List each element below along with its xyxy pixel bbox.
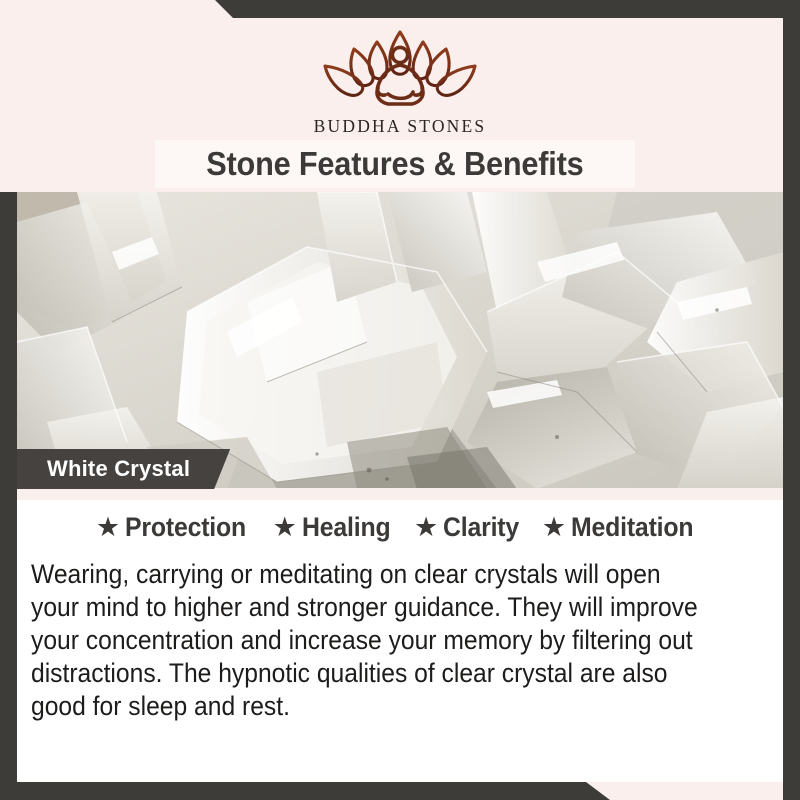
star-icon: ★ bbox=[273, 514, 297, 541]
benefit-label: Meditation bbox=[571, 512, 693, 543]
benefit-label: Protection bbox=[125, 512, 246, 543]
star-icon: ★ bbox=[96, 514, 120, 541]
benefit-item-meditation: ★ Meditation bbox=[542, 512, 704, 543]
header: BUDDHA STONES Stone Features & Benefits bbox=[0, 0, 800, 192]
photo-caption-banner: White Crystal bbox=[17, 449, 230, 489]
frame-left-cream-mask bbox=[0, 0, 17, 192]
benefits-row: ★ Protection ★ Healing ★ Clarity ★ Medit… bbox=[17, 512, 783, 543]
benefit-item-healing: ★ Healing bbox=[273, 512, 398, 543]
description-text: Wearing, carrying or meditating on clear… bbox=[31, 558, 708, 723]
frame-bottom-edge bbox=[0, 782, 800, 800]
benefit-item-clarity: ★ Clarity bbox=[414, 512, 526, 543]
white-crystal-cluster-photo bbox=[17, 192, 783, 489]
page-title: Stone Features & Benefits bbox=[206, 145, 583, 183]
star-icon: ★ bbox=[542, 514, 566, 541]
brand-logo: BUDDHA STONES bbox=[0, 22, 800, 137]
infographic-card: White Crystal bbox=[0, 0, 800, 800]
frame-right-edge bbox=[783, 0, 800, 800]
benefit-label: Healing bbox=[302, 512, 390, 543]
benefit-label: Clarity bbox=[443, 512, 519, 543]
brand-name: BUDDHA STONES bbox=[0, 116, 800, 137]
star-icon: ★ bbox=[414, 514, 438, 541]
benefit-item-protection: ★ Protection bbox=[96, 512, 257, 543]
title-band: Stone Features & Benefits bbox=[155, 140, 635, 188]
lotus-meditation-figure-logo bbox=[305, 22, 495, 114]
photo-caption-label: White Crystal bbox=[47, 456, 190, 482]
